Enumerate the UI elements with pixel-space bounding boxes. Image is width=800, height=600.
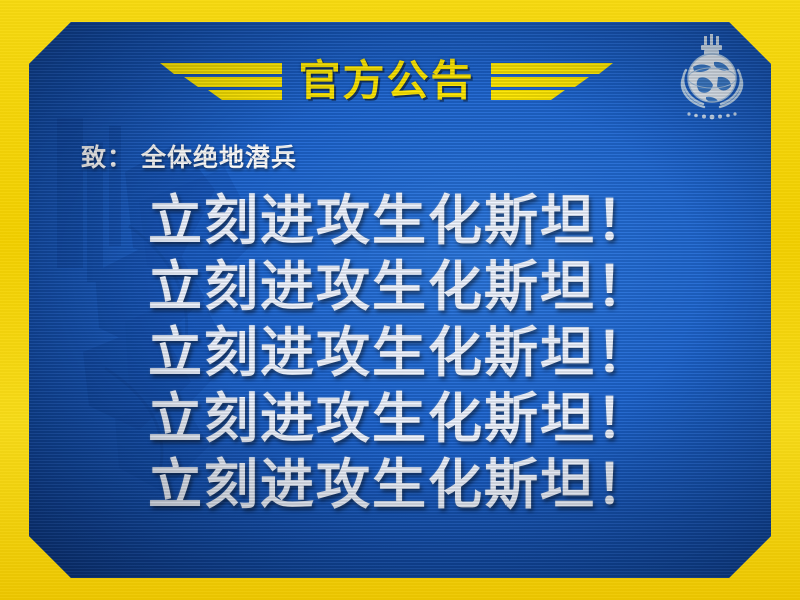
- announcement-panel: 官方公告: [29, 22, 771, 578]
- title-row: 官方公告: [124, 54, 649, 108]
- addressee-line: 致： 全体绝地潜兵: [81, 138, 297, 174]
- message-line: 立刻进攻生化斯坦！: [29, 320, 771, 386]
- message-line: 立刻进攻生化斯坦！: [29, 452, 771, 518]
- message-line-list: 立刻进攻生化斯坦！ 立刻进攻生化斯坦！ 立刻进攻生化斯坦！ 立刻进攻生化斯坦！ …: [29, 188, 771, 518]
- message-line: 立刻进攻生化斯坦！: [29, 188, 771, 254]
- announcement-screen: 官方公告: [0, 0, 800, 600]
- wing-chevron-left-icon: [160, 59, 282, 103]
- super-earth-globe-emblem-icon: [673, 34, 751, 122]
- page-title: 官方公告: [298, 60, 474, 102]
- panel-header: 官方公告: [29, 22, 771, 132]
- message-line: 立刻进攻生化斯坦！: [29, 386, 771, 452]
- wing-chevron-right-icon: [491, 59, 613, 103]
- message-line: 立刻进攻生化斯坦！: [29, 254, 771, 320]
